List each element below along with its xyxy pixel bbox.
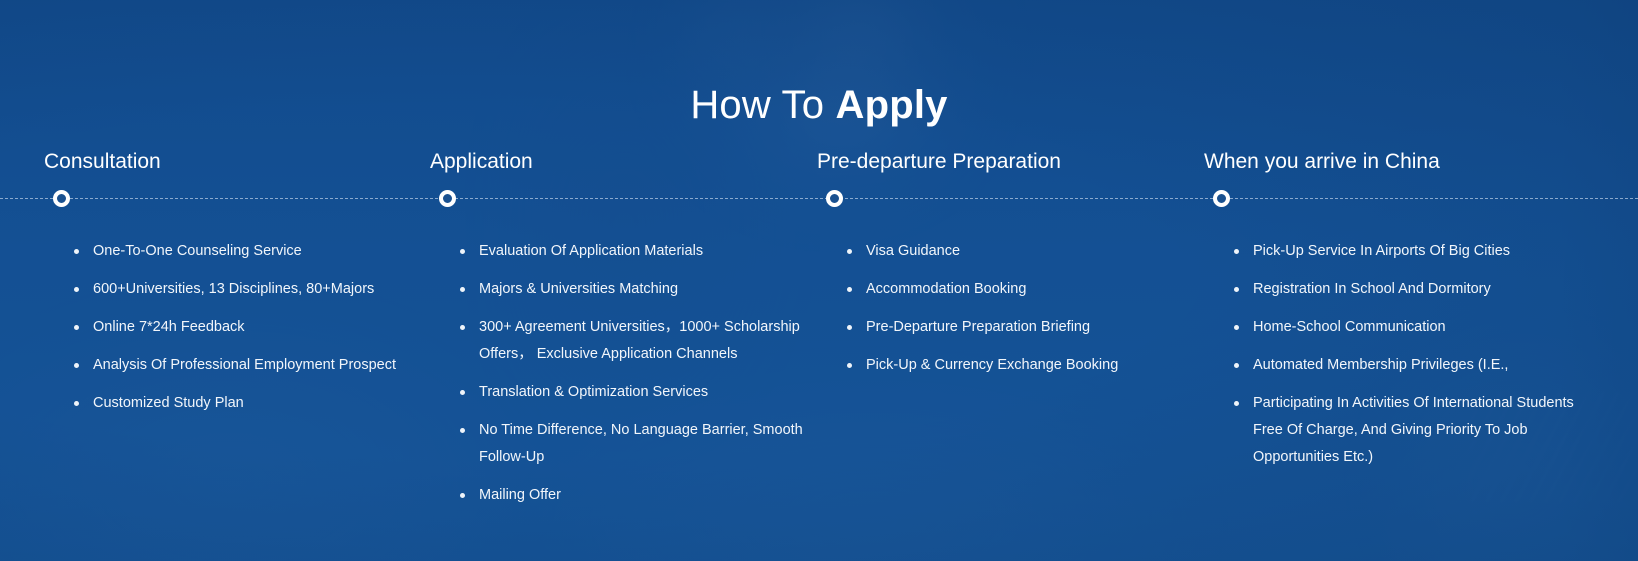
list-item: Registration In School And Dormitory: [1231, 276, 1587, 303]
step-item-list: Pick-Up Service In Airports Of Big Citie…: [1231, 238, 1587, 482]
list-item: Translation & Optimization Services: [457, 379, 813, 406]
list-item: Pre-Departure Preparation Briefing: [844, 314, 1200, 341]
circle-node-icon: [826, 190, 843, 207]
list-item: Pick-Up & Currency Exchange Booking: [844, 352, 1200, 379]
circle-node-icon: [53, 190, 70, 207]
list-item: Mailing Offer: [457, 482, 813, 509]
list-item: Customized Study Plan: [71, 390, 427, 417]
step-title: Pre-departure Preparation: [817, 148, 1061, 176]
list-item: Participating In Activities Of Internati…: [1231, 390, 1587, 471]
list-item: One-To-One Counseling Service: [71, 238, 427, 265]
list-item: No Time Difference, No Language Barrier,…: [457, 417, 813, 471]
step-item-list: One-To-One Counseling Service 600+Univer…: [71, 238, 427, 428]
step-item-list: Evaluation Of Application Materials Majo…: [457, 238, 813, 520]
step-title: Application: [430, 148, 533, 176]
step-title: Consultation: [44, 148, 161, 176]
list-item: 600+Universities, 13 Disciplines, 80+Maj…: [71, 276, 427, 303]
list-item: Automated Membership Privileges (I.E.,: [1231, 352, 1587, 379]
section-content: How To Apply Consultation One-To-One Cou…: [0, 0, 1638, 561]
step-item-list: Visa Guidance Accommodation Booking Pre-…: [844, 238, 1200, 390]
list-item: Visa Guidance: [844, 238, 1200, 265]
list-item: Majors & Universities Matching: [457, 276, 813, 303]
timeline-columns: Consultation One-To-One Counseling Servi…: [0, 0, 1638, 561]
circle-node-icon: [1213, 190, 1230, 207]
list-item: 300+ Agreement Universities，1000+ Schola…: [457, 314, 813, 368]
list-item: Analysis Of Professional Employment Pros…: [71, 352, 427, 379]
list-item: Pick-Up Service In Airports Of Big Citie…: [1231, 238, 1587, 265]
list-item: Online 7*24h Feedback: [71, 314, 427, 341]
step-title: When you arrive in China: [1204, 148, 1440, 176]
list-item: Accommodation Booking: [844, 276, 1200, 303]
how-to-apply-section: How To Apply Consultation One-To-One Cou…: [0, 0, 1638, 561]
circle-node-icon: [439, 190, 456, 207]
list-item: Home-School Communication: [1231, 314, 1587, 341]
list-item: Evaluation Of Application Materials: [457, 238, 813, 265]
